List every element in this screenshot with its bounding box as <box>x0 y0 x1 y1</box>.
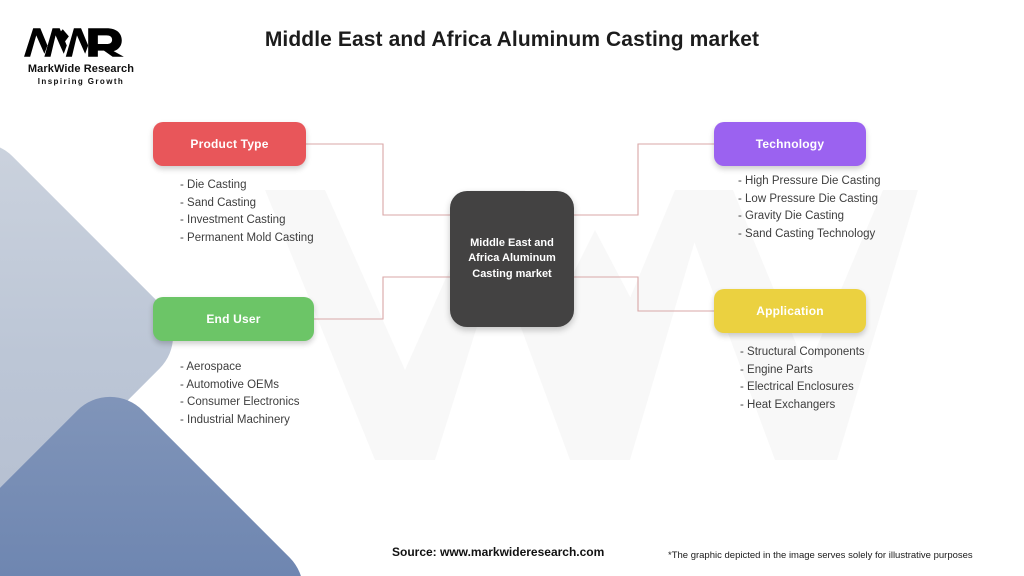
disclaimer-note: *The graphic depicted in the image serve… <box>668 550 973 561</box>
hub-label: Middle East and Africa Aluminum Casting … <box>450 236 574 282</box>
infographic-canvas: MarkWide Research Inspiring Growth Middl… <box>0 0 1024 576</box>
source-attribution[interactable]: Source: www.markwideresearch.com <box>392 545 604 559</box>
list-item: - Heat Exchangers <box>740 397 865 415</box>
branch-items-product-type: - Die Casting - Sand Casting - Investmen… <box>180 177 314 247</box>
branch-label-technology: Technology <box>756 137 824 151</box>
list-item: - Gravity Die Casting <box>738 208 881 226</box>
list-item: - Permanent Mold Casting <box>180 230 314 248</box>
branch-header-application[interactable]: Application <box>714 289 866 333</box>
hub-node[interactable]: Middle East and Africa Aluminum Casting … <box>450 191 574 327</box>
list-item: - Industrial Machinery <box>180 412 300 430</box>
list-item: - Aerospace <box>180 359 300 377</box>
list-item: - Low Pressure Die Casting <box>738 191 881 209</box>
list-item: - Automotive OEMs <box>180 377 300 395</box>
list-item: - Die Casting <box>180 177 314 195</box>
branch-label-end-user: End User <box>206 312 260 326</box>
branch-label-product-type: Product Type <box>190 137 268 151</box>
list-item: - Structural Components <box>740 344 865 362</box>
branch-items-application: - Structural Components - Engine Parts -… <box>740 344 865 414</box>
branch-items-technology: - High Pressure Die Casting - Low Pressu… <box>738 173 881 243</box>
branch-header-end-user[interactable]: End User <box>153 297 314 341</box>
list-item: - Sand Casting Technology <box>738 226 881 244</box>
branch-label-application: Application <box>756 304 824 318</box>
branch-items-end-user: - Aerospace - Automotive OEMs - Consumer… <box>180 359 300 429</box>
branch-header-technology[interactable]: Technology <box>714 122 866 166</box>
list-item: - High Pressure Die Casting <box>738 173 881 191</box>
list-item: - Investment Casting <box>180 212 314 230</box>
branch-header-product-type[interactable]: Product Type <box>153 122 306 166</box>
list-item: - Electrical Enclosures <box>740 379 865 397</box>
list-item: - Consumer Electronics <box>180 394 300 412</box>
list-item: - Sand Casting <box>180 195 314 213</box>
list-item: - Engine Parts <box>740 362 865 380</box>
